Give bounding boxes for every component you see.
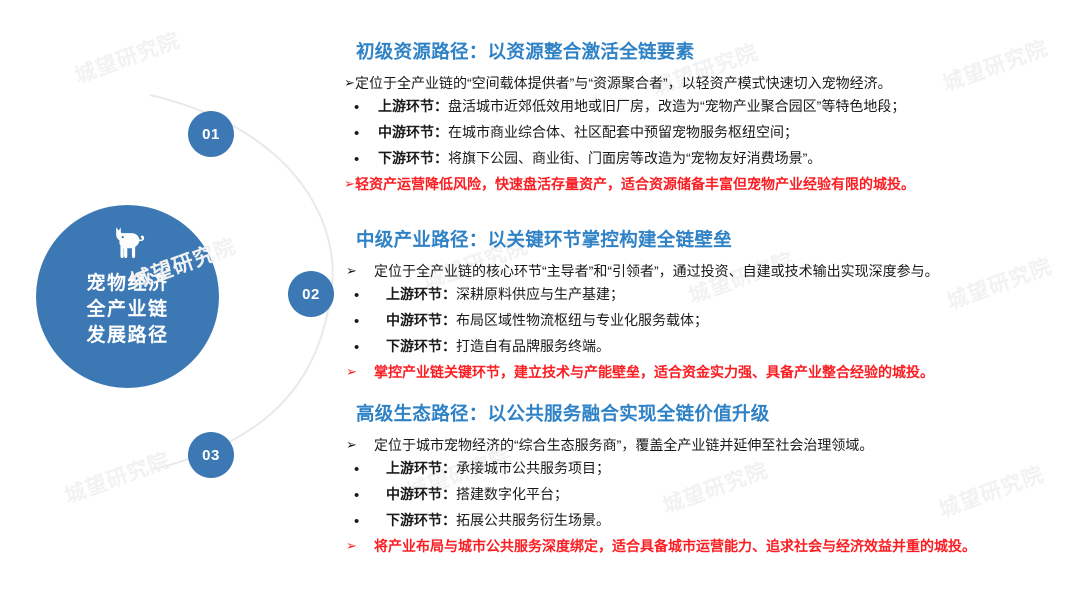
slide-canvas: 城望研究院 城望研究院 城望研究院 城望研究院 城望研究院 城望研究院 城望研究…	[0, 0, 1080, 608]
hub-circle: 宠物经济 全产业链 发展路径	[36, 205, 219, 388]
section-item-body: 搭建数字化平台；	[456, 486, 568, 502]
section-item-text: 下游环节：将旗下公园、商业街、门面房等改造为“宠物友好消费场景”。	[378, 148, 821, 169]
section-title: 高级生态路径：以公共服务融合实现全链价值升级	[344, 400, 1080, 426]
section-summary-line: ➢ 轻资产运营降低风险，快速盘活存量资产，适合资源储备丰富但宠物产业经验有限的城…	[344, 174, 1080, 195]
section-item-text: 中游环节：搭建数字化平台；	[386, 484, 568, 505]
pathway-section-advanced: 高级生态路径：以公共服务融合实现全链价值升级 ➢ 定位于城市宠物经济的“综合生态…	[344, 400, 1080, 560]
hub-label: 宠物经济 全产业链 发展路径	[86, 271, 168, 350]
dog-icon	[107, 221, 149, 265]
section-item-label: 上游环节：	[386, 286, 456, 302]
section-item-text: 下游环节：拓展公共服务衍生场景。	[386, 510, 610, 531]
section-item-text: 下游环节：打造自有品牌服务终端。	[386, 336, 610, 357]
section-item-text: 上游环节：盘活城市近郊低效用地或旧厂房，改造为“宠物产业聚合园区”等特色地段；	[378, 96, 905, 117]
section-item-body: 将旗下公园、商业街、门面房等改造为“宠物友好消费场景”。	[448, 150, 821, 166]
dot-bullet-icon: •	[344, 484, 386, 508]
pathway-details: 初级资源路径：以资源整合激活全链要素 ➢ 定位于全产业链的“空间载体提供者”与“…	[344, 0, 1080, 608]
step-badge-03[interactable]: 03	[188, 432, 234, 478]
step-badge-01[interactable]: 01	[188, 111, 234, 157]
section-item: • 中游环节：布局区域性物流枢纽与专业化服务载体；	[344, 310, 1080, 334]
arrow-bullet-icon: ➢	[344, 536, 374, 557]
section-item: • 上游环节：盘活城市近郊低效用地或旧厂房，改造为“宠物产业聚合园区”等特色地段…	[344, 96, 1080, 120]
section-lead-line: ➢ 定位于城市宠物经济的“综合生态服务商”，覆盖全产业链并延伸至社会治理领域。	[344, 435, 1080, 456]
section-summary-line: ➢ 将产业布局与城市公共服务深度绑定，适合具备城市运营能力、追求社会与经济效益并…	[344, 536, 1080, 557]
dot-bullet-icon: •	[344, 458, 386, 482]
section-summary-line: ➢ 掌控产业链关键环节，建立技术与产能壁垒，适合资金实力强、具备产业整合经验的城…	[344, 362, 1080, 383]
section-item-label: 上游环节：	[386, 460, 456, 476]
section-item-text: 中游环节：在城市商业综合体、社区配套中预留宠物服务枢纽空间；	[378, 122, 798, 143]
section-item-text: 中游环节：布局区域性物流枢纽与专业化服务载体；	[386, 310, 708, 331]
pathway-section-primary: 初级资源路径：以资源整合激活全链要素 ➢ 定位于全产业链的“空间载体提供者”与“…	[344, 38, 1080, 198]
dot-bullet-icon: •	[344, 96, 378, 120]
section-summary-text: 掌控产业链关键环节，建立技术与产能壁垒，适合资金实力强、具备产业整合经验的城投。	[374, 362, 934, 383]
section-item-body: 在城市商业综合体、社区配套中预留宠物服务枢纽空间；	[448, 124, 798, 140]
section-item-label: 下游环节：	[386, 338, 456, 354]
dot-bullet-icon: •	[344, 284, 386, 308]
hub-label-line: 全产业链	[86, 297, 168, 323]
section-lead-line: ➢ 定位于全产业链的核心环节“主导者”和“引领者”，通过投资、自建或技术输出实现…	[344, 261, 1080, 282]
arrow-bullet-icon: ➢	[344, 174, 355, 195]
section-title: 中级产业路径：以关键环节掌控构建全链壁垒	[344, 226, 1080, 252]
section-item-body: 打造自有品牌服务终端。	[456, 338, 610, 354]
section-item: • 中游环节：搭建数字化平台；	[344, 484, 1080, 508]
section-item-text: 上游环节：深耕原料供应与生产基建；	[386, 284, 624, 305]
arrow-bullet-icon: ➢	[344, 261, 374, 282]
dot-bullet-icon: •	[344, 310, 386, 334]
pathway-diagram: 宠物经济 全产业链 发展路径 01 02 03	[0, 0, 340, 608]
section-item-body: 深耕原料供应与生产基建；	[456, 286, 624, 302]
step-badge-label: 03	[202, 447, 220, 464]
section-lead-text: 定位于城市宠物经济的“综合生态服务商”，覆盖全产业链并延伸至社会治理领域。	[374, 435, 873, 456]
section-item-label: 中游环节：	[378, 124, 448, 140]
section-item-label: 中游环节：	[386, 312, 456, 328]
section-item-label: 中游环节：	[386, 486, 456, 502]
section-item-body: 布局区域性物流枢纽与专业化服务载体；	[456, 312, 708, 328]
section-lead-text: 定位于全产业链的核心环节“主导者”和“引领者”，通过投资、自建或技术输出实现深度…	[374, 261, 939, 282]
dot-bullet-icon: •	[344, 122, 378, 146]
section-item: • 下游环节：将旗下公园、商业街、门面房等改造为“宠物友好消费场景”。	[344, 148, 1080, 172]
hub-label-line: 发展路径	[86, 323, 168, 349]
section-item-label: 下游环节：	[378, 150, 448, 166]
pathway-section-intermediate: 中级产业路径：以关键环节掌控构建全链壁垒 ➢ 定位于全产业链的核心环节“主导者”…	[344, 226, 1080, 386]
section-item-label: 下游环节：	[386, 512, 456, 528]
step-badge-label: 02	[302, 286, 320, 303]
section-title: 初级资源路径：以资源整合激活全链要素	[344, 38, 1080, 64]
section-item: • 上游环节：深耕原料供应与生产基建；	[344, 284, 1080, 308]
section-item: • 下游环节：拓展公共服务衍生场景。	[344, 510, 1080, 534]
dot-bullet-icon: •	[344, 510, 386, 534]
section-item-body: 盘活城市近郊低效用地或旧厂房，改造为“宠物产业聚合园区”等特色地段；	[448, 98, 905, 114]
section-lead-line: ➢ 定位于全产业链的“空间载体提供者”与“资源聚合者”，以轻资产模式快速切入宠物…	[344, 73, 1080, 94]
section-summary-text: 将产业布局与城市公共服务深度绑定，适合具备城市运营能力、追求社会与经济效益并重的…	[374, 536, 976, 557]
section-item: • 下游环节：打造自有品牌服务终端。	[344, 336, 1080, 360]
section-item: • 中游环节：在城市商业综合体、社区配套中预留宠物服务枢纽空间；	[344, 122, 1080, 146]
section-item-text: 上游环节：承接城市公共服务项目；	[386, 458, 610, 479]
arrow-bullet-icon: ➢	[344, 435, 374, 456]
dot-bullet-icon: •	[344, 148, 378, 172]
arrow-bullet-icon: ➢	[344, 362, 374, 383]
arrow-bullet-icon: ➢	[344, 73, 355, 94]
section-item-label: 上游环节：	[378, 98, 448, 114]
section-summary-text: 轻资产运营降低风险，快速盘活存量资产，适合资源储备丰富但宠物产业经验有限的城投。	[355, 174, 915, 195]
section-item-body: 承接城市公共服务项目；	[456, 460, 610, 476]
dot-bullet-icon: •	[344, 336, 386, 360]
step-badge-02[interactable]: 02	[288, 271, 334, 317]
section-item: • 上游环节：承接城市公共服务项目；	[344, 458, 1080, 482]
hub-label-line: 宠物经济	[86, 271, 168, 297]
section-lead-text: 定位于全产业链的“空间载体提供者”与“资源聚合者”，以轻资产模式快速切入宠物经济…	[355, 73, 892, 94]
section-item-body: 拓展公共服务衍生场景。	[456, 512, 610, 528]
step-badge-label: 01	[202, 126, 220, 143]
